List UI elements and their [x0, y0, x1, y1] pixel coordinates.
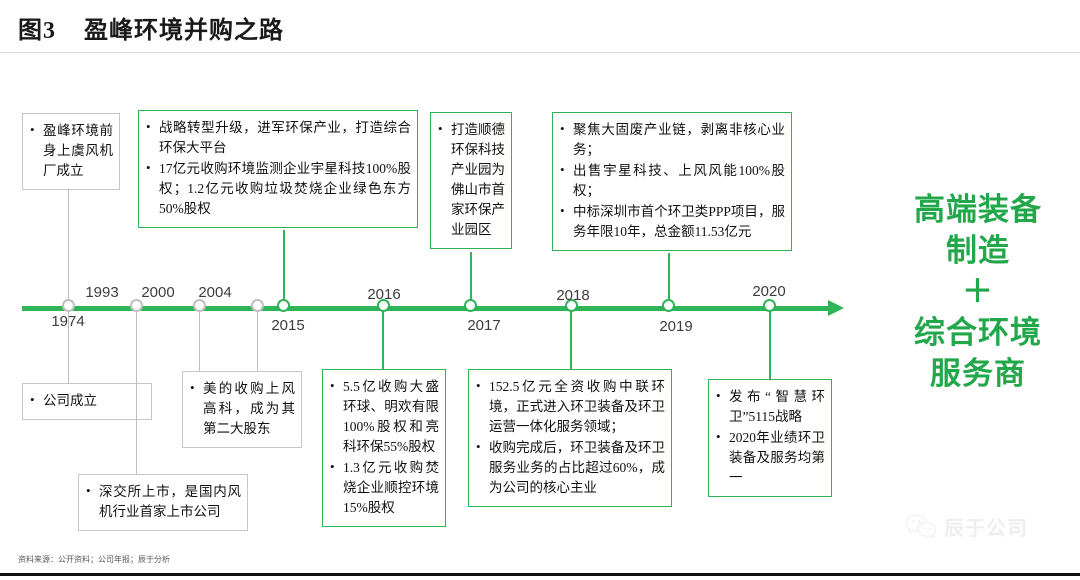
- connector-1993-bottom: [136, 311, 137, 474]
- slogan-line-3: 综合环境: [880, 313, 1076, 354]
- callout-bullet: 聚焦大固废产业链，剥离非核心业务；: [557, 120, 785, 160]
- callout-bullet: 出售宇星科技、上风风能100%股权；: [557, 161, 785, 201]
- year-label-2019: 2019: [659, 318, 692, 335]
- callout-2020-bottom: 发布“智慧环卫”5115战略 2020年业绩环卫装备及服务均第一: [708, 379, 832, 497]
- connector-2016-bottom: [382, 311, 384, 370]
- callout-bullet: 中标深圳市首个环卫类PPP项目，服务年限10年，总金额11.53亿元: [557, 202, 785, 242]
- callout-bullet: 盈峰环境前身上虞风机厂成立: [27, 121, 113, 181]
- year-label-2016: 2016: [367, 286, 400, 303]
- connector-1974-bottom: [68, 311, 69, 383]
- connector-2018-bottom: [570, 311, 572, 370]
- wechat-icon: [905, 514, 937, 540]
- callout-bullet: 5.5亿收购大盛环球、明欢有限100%股权和亮科环保55%股权: [327, 377, 439, 457]
- footer-divider: [0, 573, 1080, 576]
- year-label-2017: 2017: [467, 317, 500, 334]
- callout-2015-top: 战略转型升级，进军环保产业，打造综合环保大平台 17亿元收购环境监测企业宇星科技…: [138, 110, 418, 228]
- slogan-line-2: 制造: [880, 231, 1076, 272]
- callout-bullet: 收购完成后，环卫装备及环卫服务业务的占比超过60%，成为公司的核心主业: [473, 438, 665, 498]
- slogan-line-4: 服务商: [880, 354, 1076, 395]
- year-label-2000: 2000: [141, 284, 174, 301]
- figure-canvas: 图3 盈峰环境并购之路 盈峰环境前身上虞风机厂成立 战略转型升级，进军环保产业，…: [0, 0, 1080, 580]
- callout-bullet: 2020年业绩环卫装备及服务均第一: [713, 428, 825, 488]
- timeline-axis: [22, 306, 830, 311]
- year-label-2004: 2004: [198, 284, 231, 301]
- callout-bullet: 152.5亿元全资收购中联环境，正式进入环卫装备及环卫运营一体化服务领域；: [473, 377, 665, 437]
- callout-bullet: 战略转型升级，进军环保产业，打造综合环保大平台: [143, 118, 411, 158]
- connector-2015-top: [283, 230, 285, 302]
- connector-2017-top: [470, 252, 472, 302]
- year-label-2020: 2020: [752, 283, 785, 300]
- callout-bullet: 公司成立: [27, 391, 145, 411]
- page-title: 图3 盈峰环境并购之路: [18, 10, 284, 45]
- timeline-arrow-icon: [828, 300, 844, 316]
- callout-2016-bottom: 5.5亿收购大盛环球、明欢有限100%股权和亮科环保55%股权 1.3亿元收购焚…: [322, 369, 446, 527]
- callout-1974-bottom: 公司成立: [22, 383, 152, 420]
- callout-2004-bottom: 美的收购上风高科，成为其第二大股东: [182, 371, 302, 448]
- callout-2019-top: 聚焦大固废产业链，剥离非核心业务； 出售宇星科技、上风风能100%股权； 中标深…: [552, 112, 792, 251]
- timeline-node-2019[interactable]: [662, 299, 675, 312]
- callout-bullet: 17亿元收购环境监测企业宇星科技100%股权；1.2亿元收购垃圾焚烧企业绿色东方…: [143, 159, 411, 219]
- title-divider: [0, 52, 1080, 53]
- callout-bullet: 1.3亿元收购焚烧企业顺控环境15%股权: [327, 458, 439, 518]
- callout-bullet: 美的收购上风高科，成为其第二大股东: [187, 379, 295, 439]
- callout-2018-bottom: 152.5亿元全资收购中联环境，正式进入环卫装备及环卫运营一体化服务领域； 收购…: [468, 369, 672, 507]
- connector-2020-bottom: [769, 311, 771, 379]
- slogan-plus-sign: ＋: [880, 272, 1076, 313]
- timeline-node-2017[interactable]: [464, 299, 477, 312]
- watermark-logo: 辰于公司: [905, 512, 1028, 541]
- slogan-block: 高端装备 制造 ＋ 综合环境 服务商: [880, 190, 1076, 395]
- callout-bullet: 发布“智慧环卫”5115战略: [713, 387, 825, 427]
- slogan-line-1: 高端装备: [880, 190, 1076, 231]
- year-label-2015: 2015: [271, 317, 304, 334]
- callout-bullet: 打造顺德环保科技产业园为佛山市首家环保产业园区: [435, 120, 505, 240]
- callout-1993-bottom: 深交所上市，是国内风机行业首家上市公司: [78, 474, 248, 531]
- logo-text: 辰于公司: [944, 512, 1028, 541]
- connector-2004-bottom: [257, 311, 258, 371]
- year-label-2018: 2018: [556, 287, 589, 304]
- connector-2000-stub: [199, 311, 200, 371]
- source-note: 资料来源：公开资料；公司年报；辰于分析: [18, 554, 170, 565]
- timeline-node-2015[interactable]: [277, 299, 290, 312]
- callout-1974-top: 盈峰环境前身上虞风机厂成立: [22, 113, 120, 190]
- callout-bullet: 深交所上市，是国内风机行业首家上市公司: [83, 482, 241, 522]
- callout-2017-top: 打造顺德环保科技产业园为佛山市首家环保产业园区: [430, 112, 512, 249]
- connector-2019-top: [668, 253, 670, 302]
- connector-1974-top: [68, 189, 69, 299]
- year-label-1993: 1993: [85, 284, 118, 301]
